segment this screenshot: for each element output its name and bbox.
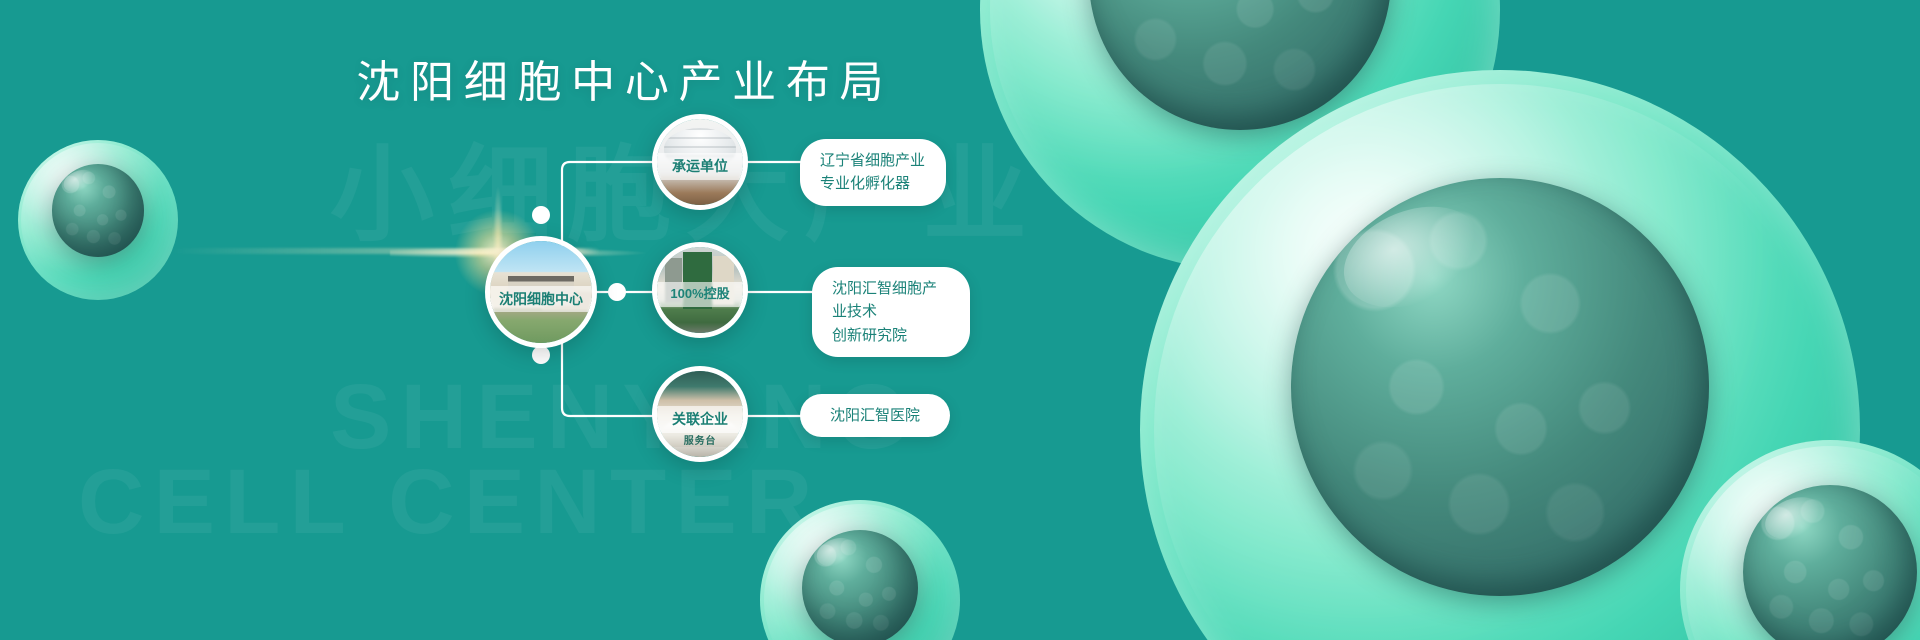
node-middle-caption: 100%控股 (657, 282, 743, 307)
banner-stage: 小细胞大产业 SHENYANG CELL CENTER 沈阳细胞中心产业布局 沈… (0, 0, 1920, 640)
node-bottom-sub-caption: 服务台 (657, 432, 743, 447)
node-carrier-unit[interactable]: 承运单位 (652, 114, 748, 210)
node-center-caption: 沈阳细胞中心 (490, 286, 592, 312)
label-liaoning-incubator[interactable]: 辽宁省细胞产业 专业化孵化器 (800, 139, 946, 206)
junction-dot-top (532, 206, 550, 224)
node-top-caption: 承运单位 (657, 153, 743, 179)
node-full-ownership[interactable]: 100%控股 (652, 242, 748, 338)
junction-dot-bottom (532, 346, 550, 364)
node-affiliated-enterprise[interactable]: 关联企业 服务台 (652, 366, 748, 462)
junction-dot-middle (608, 283, 626, 301)
node-center-shenyang-cell-center[interactable]: 沈阳细胞中心 (485, 236, 597, 348)
label-huizhi-hospital[interactable]: 沈阳汇智医院 (800, 394, 950, 437)
node-bottom-caption: 关联企业 (657, 406, 743, 432)
label-huizhi-research-institute[interactable]: 沈阳汇智细胞产业技术 创新研究院 (812, 267, 970, 357)
